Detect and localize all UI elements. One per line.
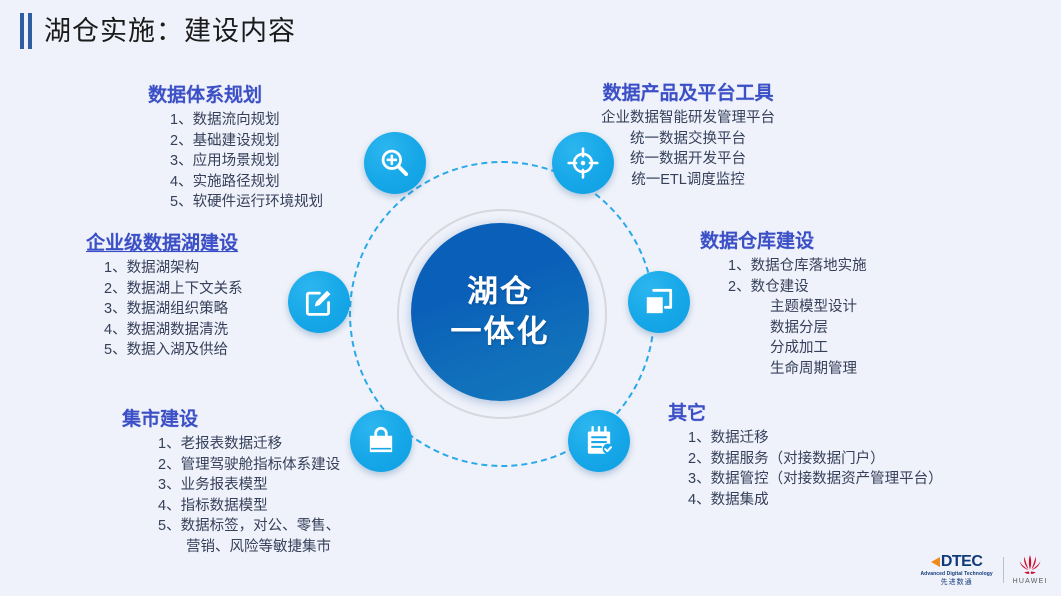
huawei-wordmark: HUAWEI: [1012, 577, 1048, 587]
list-item: 1、数据湖架构: [104, 258, 243, 279]
dtec-wordmark: DTEC: [941, 554, 983, 570]
block-title: 数据产品及平台工具: [601, 82, 775, 106]
node-target[interactable]: [552, 132, 614, 194]
dtec-logo: DTEC Advanced Digital Technology 先进数通: [918, 554, 995, 587]
huawei-logo: HUAWEI: [1012, 554, 1048, 587]
node-zoom-in[interactable]: [364, 132, 426, 194]
sub-list-item: 生命周期管理: [728, 359, 867, 380]
block-item-list: 1、数据仓库落地实施 2、数仓建设 主题模型设计 数据分层 分成加工 生命周期管…: [728, 256, 867, 379]
list-item: 3、数据管控（对接数据资产管理平台）: [688, 469, 943, 490]
block-item-list: 1、数据湖架构 2、数据湖上下文关系 3、数据湖组织策略 4、数据湖数据清洗 5…: [104, 258, 243, 361]
block-data-system-planning: 数据体系规划 1、数据流向规划 2、基础建设规划 3、应用场景规划 4、实施路径…: [148, 84, 323, 213]
block-title: 其它: [668, 402, 943, 426]
list-item: 2、数仓建设: [728, 277, 867, 298]
center-label-line1: 湖仓: [467, 272, 533, 312]
node-bag[interactable]: [350, 410, 412, 472]
dtec-tagline: Advanced Digital Technology: [918, 571, 995, 578]
list-item-wrap: 营销、风险等敏捷集市: [158, 537, 340, 558]
list-item: 1、数据仓库落地实施: [728, 256, 867, 277]
dtec-chinese-name: 先进数通: [918, 578, 995, 587]
node-copy[interactable]: [628, 271, 690, 333]
dtec-wordmark-row: DTEC: [918, 554, 995, 570]
block-others: 其它 1、数据迁移 2、数据服务（对接数据门户） 3、数据管控（对接数据资产管理…: [668, 402, 943, 510]
list-item: 3、数据湖组织策略: [104, 299, 243, 320]
block-title: 数据体系规划: [148, 84, 323, 108]
title-accent-bar-left: [20, 13, 24, 49]
title-accent-bar-right: [28, 13, 32, 49]
sub-list-item: 主题模型设计: [728, 297, 867, 318]
footer-logos: DTEC Advanced Digital Technology 先进数通 HU…: [918, 550, 1048, 590]
block-item-list: 1、数据迁移 2、数据服务（对接数据门户） 3、数据管控（对接数据资产管理平台）…: [688, 428, 943, 510]
notepad-check-icon: [582, 424, 616, 458]
page-title: 湖仓实施：建设内容: [44, 13, 296, 49]
list-item: 企业数据智能研发管理平台: [601, 108, 775, 129]
crosshair-target-icon: [566, 146, 600, 180]
list-item: 5、数据入湖及供给: [104, 340, 243, 361]
page-header: 湖仓实施：建设内容: [0, 0, 1061, 64]
logo-divider: [1003, 557, 1004, 583]
huawei-flower-icon: [1017, 554, 1043, 576]
center-core-circle: 湖仓 一体化: [411, 223, 589, 401]
block-data-warehouse-construction: 数据仓库建设 1、数据仓库落地实施 2、数仓建设 主题模型设计 数据分层 分成加…: [700, 230, 867, 379]
list-item: 4、数据集成: [688, 490, 943, 511]
sub-list-item: 数据分层: [728, 318, 867, 339]
hub-and-spoke-diagram: 湖仓 一体化: [300, 128, 700, 500]
center-label-line2: 一体化: [451, 312, 550, 352]
list-item: 4、数据湖数据清洗: [104, 320, 243, 341]
pencil-square-icon: [302, 285, 336, 319]
node-checklist[interactable]: [568, 410, 630, 472]
dtec-triangle-icon: [931, 557, 940, 567]
list-item: 1、数据迁移: [688, 428, 943, 449]
shopping-bag-icon: [364, 424, 398, 458]
list-item: 2、数据服务（对接数据门户）: [688, 449, 943, 470]
node-edit[interactable]: [288, 271, 350, 333]
block-enterprise-data-lake: 企业级数据湖建设 1、数据湖架构 2、数据湖上下文关系 3、数据湖组织策略 4、…: [86, 232, 243, 361]
list-item: 2、数据湖上下文关系: [104, 279, 243, 300]
block-title: 数据仓库建设: [700, 230, 867, 254]
magnifier-plus-icon: [378, 146, 412, 180]
copy-layers-icon: [642, 285, 676, 319]
block-title: 企业级数据湖建设: [86, 232, 243, 256]
list-item: 5、数据标签，对公、零售、: [158, 516, 340, 537]
sub-list-item: 分成加工: [728, 338, 867, 359]
